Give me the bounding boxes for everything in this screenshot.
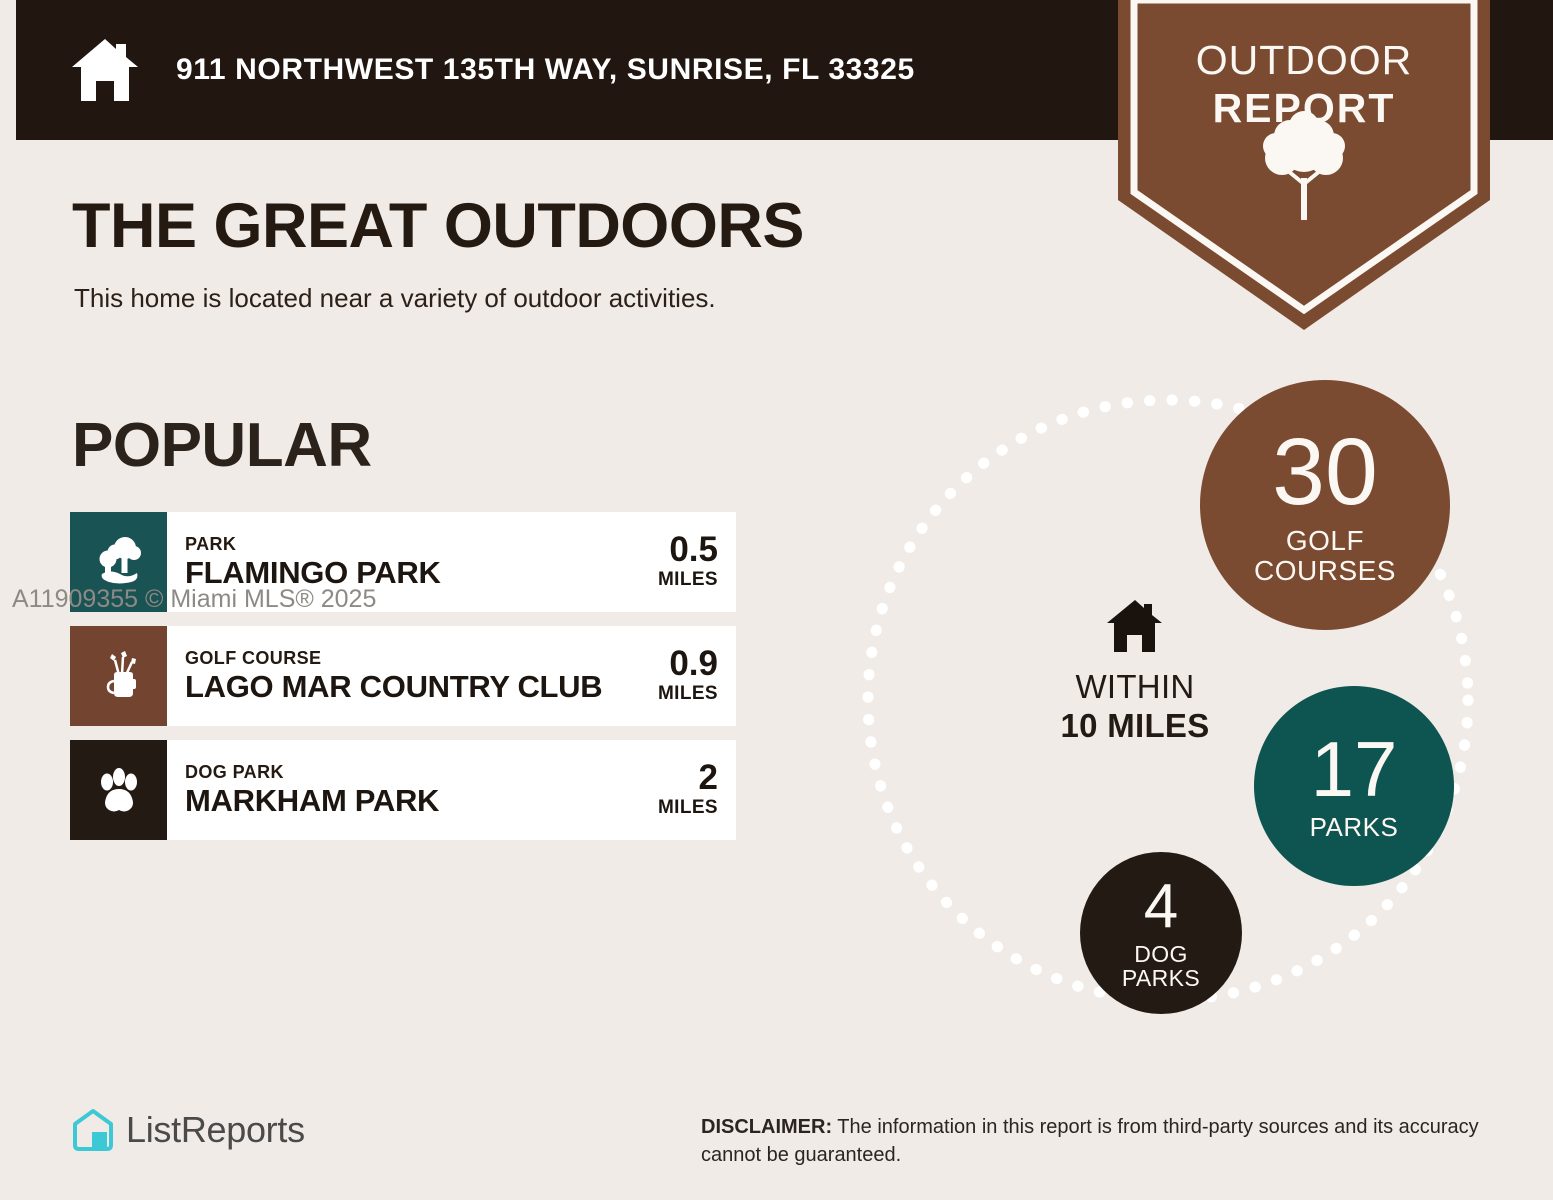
park-trees-icon <box>92 535 146 589</box>
poi-distance-unit: MILES <box>658 796 718 820</box>
property-address: 911 NORTHWEST 135TH WAY, SUNRISE, FL 333… <box>176 53 915 87</box>
stat-circle-dog-parks[interactable]: 4 DOG PARKS <box>1080 852 1242 1014</box>
stat-label-line2: PARKS <box>1122 966 1200 990</box>
list-item[interactable]: GOLF COURSE LAGO MAR COUNTRY CLUB 0.9 MI… <box>70 626 736 726</box>
listreports-logo-text: ListReports <box>126 1109 305 1151</box>
stat-value: 4 <box>1144 876 1178 938</box>
poi-text: PARK FLAMINGO PARK <box>167 512 626 612</box>
poi-distance: 0.9 MILES <box>626 626 736 726</box>
page-title: THE GREAT OUTDOORS <box>72 190 804 262</box>
poi-name: MARKHAM PARK <box>185 783 626 819</box>
poi-distance-unit: MILES <box>658 568 718 592</box>
poi-category: PARK <box>185 533 626 555</box>
poi-name: LAGO MAR COUNTRY CLUB <box>185 669 626 705</box>
poi-distance-unit: MILES <box>658 682 718 706</box>
diagram-center-label: WITHIN 10 MILES <box>1020 598 1250 746</box>
poi-icon-box <box>70 626 167 726</box>
badge-title-line1: OUTDOOR <box>1118 36 1490 84</box>
poi-distance: 0.5 MILES <box>626 512 736 612</box>
poi-distance-value: 0.5 <box>669 532 718 568</box>
poi-distance-value: 0.9 <box>669 646 718 682</box>
center-line1: WITHIN <box>1020 668 1250 706</box>
stat-circle-parks[interactable]: 17 PARKS <box>1254 686 1454 886</box>
badge-title-line2: REPORT <box>1118 84 1490 132</box>
disclaimer-label: DISCLAIMER: <box>701 1116 832 1138</box>
stat-label-line1: GOLF <box>1286 526 1364 555</box>
center-line2: 10 MILES <box>1020 706 1250 746</box>
poi-category: DOG PARK <box>185 761 626 783</box>
golf-bag-icon <box>92 649 146 703</box>
listreports-logo[interactable]: ListReports <box>70 1107 305 1153</box>
amenities-diagram: 30 GOLF COURSES 17 PARKS 4 DOG PARKS WIT… <box>828 370 1508 1030</box>
outdoor-report-page: 911 NORTHWEST 135TH WAY, SUNRISE, FL 333… <box>0 0 1553 1200</box>
poi-category: GOLF COURSE <box>185 647 626 669</box>
list-item[interactable]: PARK FLAMINGO PARK 0.5 MILES <box>70 512 736 612</box>
stat-value: 30 <box>1272 425 1378 520</box>
page-subtitle: This home is located near a variety of o… <box>74 283 716 314</box>
disclaimer: DISCLAIMER: The information in this repo… <box>701 1113 1501 1169</box>
poi-icon-box <box>70 512 167 612</box>
popular-section-heading: POPULAR <box>72 410 372 481</box>
list-item[interactable]: DOG PARK MARKHAM PARK 2 MILES <box>70 740 736 840</box>
badge-title: OUTDOOR REPORT <box>1118 36 1490 132</box>
poi-text: DOG PARK MARKHAM PARK <box>167 740 626 840</box>
stat-label-line1: DOG <box>1134 942 1188 966</box>
popular-poi-list: PARK FLAMINGO PARK 0.5 MILES <box>70 512 736 854</box>
paw-print-icon <box>92 763 146 817</box>
stat-label-line2: COURSES <box>1254 556 1396 585</box>
outdoor-report-badge: OUTDOOR REPORT <box>1118 0 1490 330</box>
listreports-house-icon <box>70 1107 116 1153</box>
stat-value: 17 <box>1311 730 1398 808</box>
home-icon <box>1105 598 1165 654</box>
stat-circle-golf-courses[interactable]: 30 GOLF COURSES <box>1200 380 1450 630</box>
poi-distance-value: 2 <box>699 760 718 796</box>
stat-label-line1: PARKS <box>1310 814 1399 841</box>
home-icon <box>68 37 142 103</box>
poi-icon-box <box>70 740 167 840</box>
poi-distance: 2 MILES <box>626 740 736 840</box>
poi-name: FLAMINGO PARK <box>185 555 626 591</box>
poi-text: GOLF COURSE LAGO MAR COUNTRY CLUB <box>167 626 626 726</box>
